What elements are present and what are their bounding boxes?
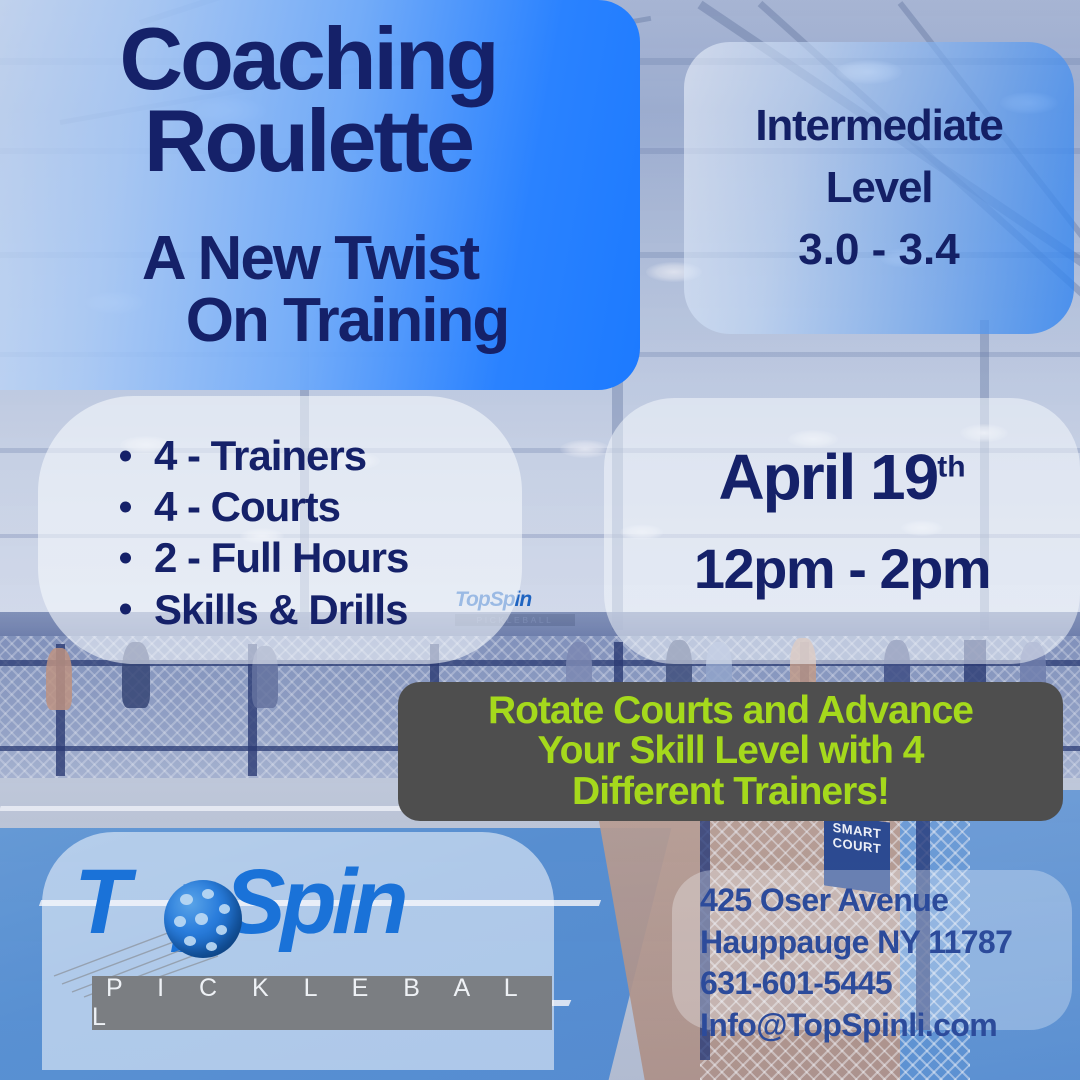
ball-hole <box>219 904 230 914</box>
features-list: 4 - Trainers 4 - Courts 2 - Full Hours S… <box>114 430 408 635</box>
title-line-2: Roulette <box>0 100 626 182</box>
schedule-panel: April 19th 12pm - 2pm <box>604 398 1080 664</box>
ball-hole <box>216 925 227 935</box>
logo-tagline-bar: P I C K L E B A L L <box>92 976 552 1030</box>
callout-banner: Rotate Courts and Advance Your Skill Lev… <box>398 682 1063 821</box>
callout-text: Rotate Courts and Advance Your Skill Lev… <box>488 691 973 813</box>
level-line-1: Intermediate <box>698 101 1060 151</box>
ball-hole <box>195 913 208 925</box>
subtitle-line-1: A New Twist <box>142 224 478 293</box>
contact-email[interactable]: Info@TopSpinli.com <box>700 1005 1012 1047</box>
title-panel: Coaching Roulette A New Twist On Trainin… <box>0 0 640 390</box>
logo-panel: TopSpin <box>42 832 554 1070</box>
brand-logo: TopSpin <box>56 850 552 1030</box>
list-item: 2 - Full Hours <box>114 532 408 583</box>
callout-line-1: Rotate Courts and Advance <box>488 691 973 732</box>
contact-street: 425 Oser Avenue <box>700 880 1012 922</box>
level-rating-range: 3.0 - 3.4 <box>698 225 1060 275</box>
title-line-1: Coaching <box>0 18 626 100</box>
event-date: April 19th <box>604 440 1080 514</box>
ball-hole <box>206 942 217 951</box>
ball-hole <box>202 889 214 899</box>
list-item: Skills & Drills <box>114 584 408 635</box>
ball-hole <box>184 936 196 946</box>
list-item: 4 - Courts <box>114 481 408 532</box>
contact-city-state-zip: Hauppauge NY 11787 <box>700 922 1012 964</box>
event-date-ordinal-suffix: th <box>937 451 965 484</box>
pickleball-icon <box>164 880 242 958</box>
subtitle-line-2: On Training <box>0 290 630 352</box>
callout-line-2: Your Skill Level with 4 <box>488 731 973 772</box>
contact-info: 425 Oser Avenue Hauppauge NY 11787 631-6… <box>700 880 1012 1046</box>
page-subtitle: A New Twist On Training <box>0 228 640 352</box>
features-panel: 4 - Trainers 4 - Courts 2 - Full Hours S… <box>38 396 522 664</box>
page-title: Coaching Roulette <box>0 18 640 182</box>
event-time: 12pm - 2pm <box>604 536 1080 601</box>
ball-hole <box>180 894 193 905</box>
callout-line-3: Different Trainers! <box>488 772 973 813</box>
ball-hole <box>174 916 186 927</box>
list-item: 4 - Trainers <box>114 430 408 481</box>
skill-level-panel: Intermediate Level 3.0 - 3.4 <box>684 42 1074 334</box>
event-date-text: April 19 <box>718 441 937 513</box>
contact-phone[interactable]: 631-601-5445 <box>700 963 1012 1005</box>
poster-canvas: TopSpin PICKLEBALL <box>0 0 1080 1080</box>
level-line-2: Level <box>698 163 1060 213</box>
logo-wordmark-row: TopSpin <box>56 850 552 966</box>
